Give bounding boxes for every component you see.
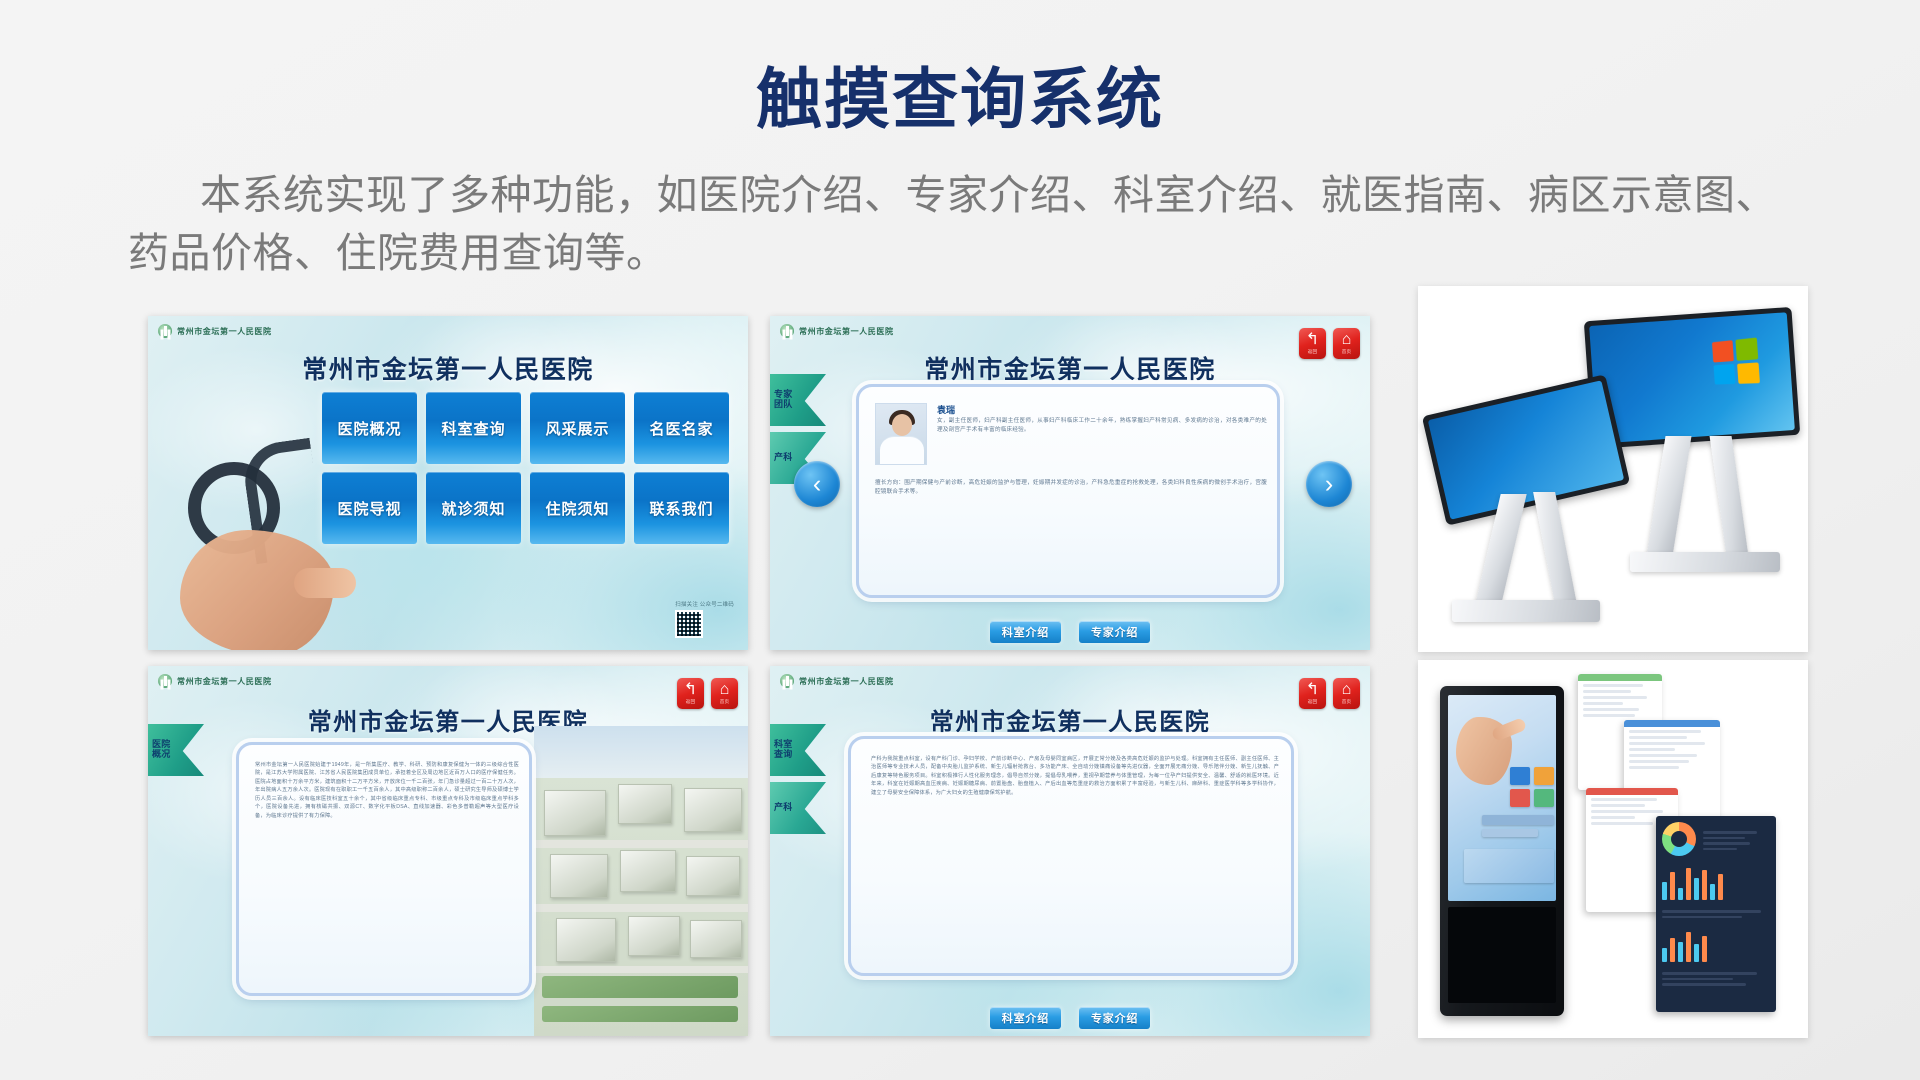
kiosk-screenshot-home-menu[interactable]: 常州市金坛第一人民医院 常州市金坛第一人民医院 医院概况 科室查询 风采展示 名… bbox=[148, 316, 748, 650]
kiosk-header-title: 常州市金坛第一人民医院 bbox=[770, 702, 1370, 737]
department-text: 产科为我院重点科室，设有产科门诊、孕妇学校、产前诊断中心、产房及母婴同室病区，开… bbox=[871, 755, 1279, 797]
kiosk-screenshot-hospital-overview[interactable]: 常州市金坛第一人民医院 ↰ 返回 ⌂ 首页 常州市金坛第一人民医院 医院 概况 bbox=[148, 666, 748, 1036]
ui-tile bbox=[1482, 815, 1554, 825]
bottom-button-bar: 科室介绍 专家介绍 bbox=[770, 621, 1370, 643]
app-card-header bbox=[1578, 674, 1662, 681]
qr-code-block[interactable]: 扫描关注 公众号二维码 bbox=[675, 600, 734, 638]
kiosk-screen-front bbox=[1428, 380, 1624, 519]
kiosk-base-front bbox=[1452, 600, 1600, 622]
cross-logo-icon bbox=[780, 324, 794, 338]
prev-expert-button[interactable]: ‹ bbox=[794, 461, 840, 507]
menu-button-showcase[interactable]: 风采展示 bbox=[530, 392, 625, 464]
hospital-logo: 常州市金坛第一人民医院 bbox=[158, 674, 272, 688]
overview-text-card: 常州市金坛第一人民医院始建于1949年，是一所集医疗、教学、科研、预防和康复保健… bbox=[236, 742, 532, 996]
ui-tile bbox=[1510, 789, 1530, 807]
kiosk-stand-front-2 bbox=[1533, 492, 1577, 604]
home-icon: ⌂ bbox=[1342, 682, 1352, 698]
road bbox=[534, 904, 748, 912]
building-block bbox=[550, 854, 608, 898]
kiosk-base-rear bbox=[1630, 552, 1780, 572]
tab-department-intro[interactable]: 科室介绍 bbox=[990, 621, 1061, 643]
doctor-name: 袁瑞 bbox=[937, 403, 955, 416]
hospital-logo-text: 常州市金坛第一人民医院 bbox=[177, 676, 272, 687]
kiosk-screenshot-expert-detail[interactable]: 常州市金坛第一人民医院 ↰ 返回 ⌂ 首页 常州市金坛第一人民医院 专家 团队 … bbox=[770, 316, 1370, 650]
app-card-header bbox=[1624, 720, 1720, 727]
next-expert-button[interactable]: › bbox=[1306, 461, 1352, 507]
product-photo-vertical-totem-kiosk bbox=[1418, 660, 1808, 1038]
menu-button-admission-notice[interactable]: 住院须知 bbox=[530, 472, 625, 544]
ui-tile bbox=[1464, 849, 1554, 883]
doctor-portrait bbox=[875, 403, 927, 465]
home-icon: ⌂ bbox=[1342, 332, 1352, 348]
menu-button-label: 医院导视 bbox=[337, 498, 401, 519]
menu-button-label: 科室查询 bbox=[441, 418, 505, 439]
hospital-logo: 常州市金坛第一人民医院 bbox=[780, 324, 894, 338]
ui-tile bbox=[1534, 767, 1554, 785]
menu-button-label: 就诊须知 bbox=[441, 498, 505, 519]
qr-caption: 扫描关注 公众号二维码 bbox=[675, 600, 734, 608]
green-area bbox=[542, 1006, 738, 1022]
page-title: 触摸查询系统 bbox=[0, 46, 1920, 142]
face-shape bbox=[892, 414, 912, 436]
product-photo-floor-stand-kiosk bbox=[1418, 286, 1808, 652]
side-tab-label: 产科 bbox=[774, 803, 802, 813]
menu-button-hospital-overview[interactable]: 医院概况 bbox=[322, 392, 417, 464]
kiosk-screen-rear bbox=[1589, 312, 1795, 444]
page-description: 本系统实现了多种功能，如医院介绍、专家介绍、科室介绍、就医指南、病区示意图、药品… bbox=[128, 166, 1808, 282]
qr-code-icon bbox=[675, 610, 703, 638]
hospital-logo-text: 常州市金坛第一人民医院 bbox=[799, 326, 894, 337]
menu-button-label: 医院概况 bbox=[337, 418, 401, 439]
menu-button-famous-doctors[interactable]: 名医名家 bbox=[634, 392, 729, 464]
hospital-logo-text: 常州市金坛第一人民医院 bbox=[799, 676, 894, 687]
overview-text: 常州市金坛第一人民医院始建于1949年，是一所集医疗、教学、科研、预防和康复保健… bbox=[255, 761, 519, 820]
menu-button-label: 住院须知 bbox=[545, 498, 609, 519]
kiosk-monitor-front bbox=[1422, 374, 1630, 525]
menu-button-contact-us[interactable]: 联系我们 bbox=[634, 472, 729, 544]
side-tab-label: 科室 查询 bbox=[774, 740, 802, 759]
app-card-header bbox=[1586, 788, 1678, 795]
building-block bbox=[686, 856, 740, 896]
kiosk-header-title: 常州市金坛第一人民医院 bbox=[148, 350, 748, 386]
tab-expert-intro[interactable]: 专家介绍 bbox=[1079, 1007, 1150, 1029]
ui-tile bbox=[1534, 789, 1554, 807]
menu-button-label: 风采展示 bbox=[545, 418, 609, 439]
doctor-intro-text: 女，副主任医师，妇产科副主任医师，从事妇产科临床工作二十余年，熟练掌握妇产科常见… bbox=[937, 417, 1267, 435]
main-menu-grid: 医院概况 科室查询 风采展示 名医名家 医院导视 就诊须知 住院须知 联系我们 bbox=[322, 392, 734, 544]
road bbox=[534, 840, 748, 848]
menu-button-department-search[interactable]: 科室查询 bbox=[426, 392, 521, 464]
donut-chart bbox=[1662, 822, 1696, 856]
chevron-right-icon: › bbox=[1325, 472, 1333, 497]
menu-button-label: 联系我们 bbox=[649, 498, 713, 519]
building-block bbox=[690, 920, 742, 958]
tab-department-intro[interactable]: 科室介绍 bbox=[990, 1007, 1061, 1029]
department-text-card: 产科为我院重点科室，设有产科门诊、孕妇学校、产前诊断中心、产房及母婴同室病区，开… bbox=[848, 736, 1294, 976]
back-arrow-icon: ↰ bbox=[1306, 332, 1319, 348]
chevron-left-icon: ‹ bbox=[813, 472, 821, 497]
kiosk-stand-rear-2 bbox=[1710, 436, 1749, 556]
building-block bbox=[628, 916, 680, 956]
lab-coat-shape bbox=[880, 436, 924, 465]
building-block bbox=[620, 850, 676, 892]
dashboard-card bbox=[1656, 816, 1776, 1012]
menu-button-visit-notice[interactable]: 就诊须知 bbox=[426, 472, 521, 544]
totem-lower-bezel bbox=[1448, 907, 1556, 1003]
back-arrow-icon: ↰ bbox=[684, 682, 697, 698]
bar-chart bbox=[1662, 866, 1770, 900]
kiosk-stand-rear bbox=[1646, 436, 1691, 556]
windows-logo-icon bbox=[1712, 337, 1760, 384]
expert-info-card: 袁瑞 女，副主任医师，妇产科副主任医师，从事妇产科临床工作二十余年，熟练掌握妇产… bbox=[856, 384, 1280, 598]
hospital-aerial-photo bbox=[534, 726, 748, 1036]
building-block bbox=[684, 788, 742, 832]
touching-hand-icon bbox=[1456, 717, 1512, 785]
home-icon: ⌂ bbox=[720, 682, 730, 698]
kiosk-screenshots-group: 常州市金坛第一人民医院 常州市金坛第一人民医院 医院概况 科室查询 风采展示 名… bbox=[148, 316, 1370, 1036]
hospital-logo: 常州市金坛第一人民医院 bbox=[158, 324, 272, 338]
building-block bbox=[556, 918, 616, 962]
tab-expert-intro[interactable]: 专家介绍 bbox=[1079, 621, 1150, 643]
side-tab-label: 产科 bbox=[774, 453, 802, 463]
kiosk-header-title: 常州市金坛第一人民医院 bbox=[770, 350, 1370, 386]
ui-tile bbox=[1510, 767, 1530, 785]
menu-button-label: 名医名家 bbox=[649, 418, 713, 439]
hospital-logo-text: 常州市金坛第一人民医院 bbox=[177, 326, 272, 337]
building-block bbox=[618, 784, 672, 824]
road bbox=[534, 966, 748, 973]
finger-shape bbox=[294, 568, 356, 598]
ui-tile bbox=[1482, 829, 1538, 837]
menu-button-wayfinding[interactable]: 医院导视 bbox=[322, 472, 417, 544]
kiosk-screenshot-department-detail[interactable]: 常州市金坛第一人民医院 ↰ 返回 ⌂ 首页 常州市金坛第一人民医院 科室 查询 … bbox=[770, 666, 1370, 1036]
bar-chart-secondary bbox=[1662, 928, 1770, 962]
doctor-detail-text: 擅长方向：围产期保健与产前诊断，高危妊娠的监护与管理，妊娠期并发症的诊治，产科急… bbox=[875, 479, 1267, 497]
hospital-logo: 常州市金坛第一人民医院 bbox=[780, 674, 894, 688]
side-tab-label: 专家 团队 bbox=[774, 390, 802, 409]
bottom-button-bar: 科室介绍 专家介绍 bbox=[770, 1007, 1370, 1029]
totem-screen bbox=[1448, 695, 1556, 901]
cross-logo-icon bbox=[780, 674, 794, 688]
side-tab-label: 医院 概况 bbox=[152, 740, 180, 759]
totem-kiosk-body bbox=[1440, 686, 1564, 1016]
green-area bbox=[542, 976, 738, 998]
back-arrow-icon: ↰ bbox=[1306, 682, 1319, 698]
sky-region bbox=[534, 726, 748, 778]
building-block bbox=[544, 790, 606, 836]
cross-logo-icon bbox=[158, 674, 172, 688]
cross-logo-icon bbox=[158, 324, 172, 338]
